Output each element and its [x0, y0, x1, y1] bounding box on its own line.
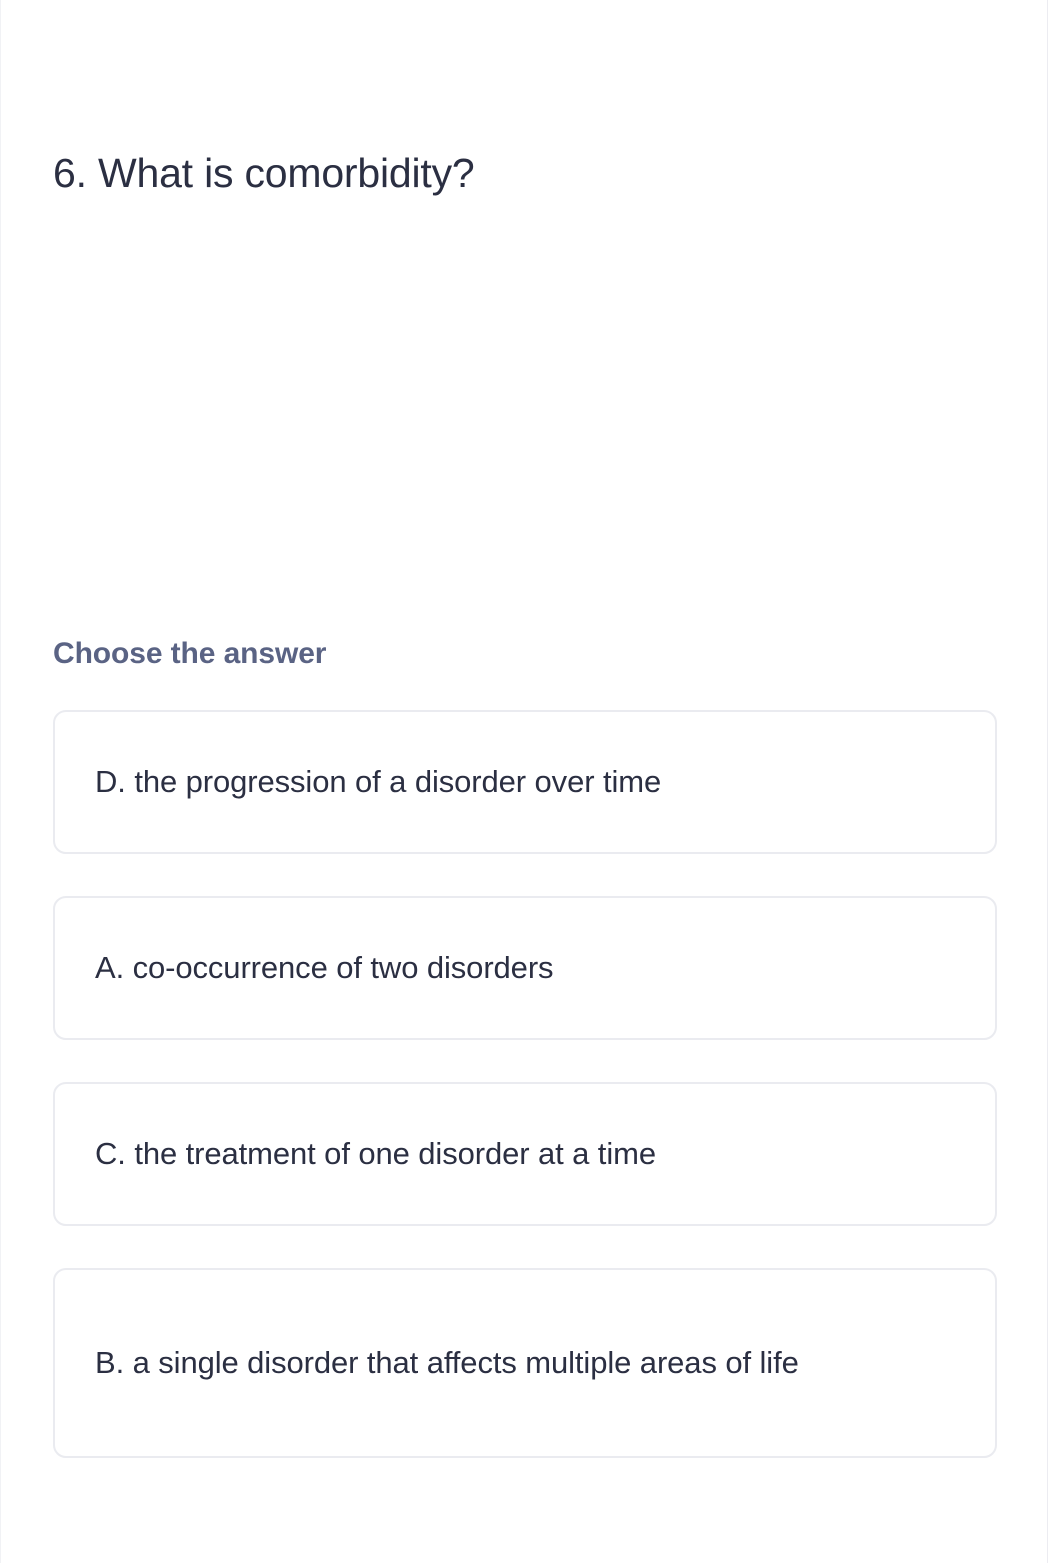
answer-option-d[interactable]: D. the progression of a disorder over ti…	[53, 710, 997, 854]
question-title: 6. What is comorbidity?	[53, 148, 953, 199]
answer-option-c[interactable]: C. the treatment of one disorder at a ti…	[53, 1082, 997, 1226]
answer-option-label: B. a single disorder that affects multip…	[95, 1338, 799, 1388]
answer-option-label: A. co-occurrence of two disorders	[95, 943, 553, 993]
quiz-page: 6. What is comorbidity? Choose the answe…	[0, 0, 1048, 1563]
answer-option-a[interactable]: A. co-occurrence of two disorders	[53, 896, 997, 1040]
answer-options-list: D. the progression of a disorder over ti…	[53, 710, 997, 1458]
answer-option-b[interactable]: B. a single disorder that affects multip…	[53, 1268, 997, 1458]
choose-answer-label: Choose the answer	[53, 636, 326, 672]
answer-option-label: C. the treatment of one disorder at a ti…	[95, 1129, 656, 1179]
answer-option-label: D. the progression of a disorder over ti…	[95, 757, 661, 807]
